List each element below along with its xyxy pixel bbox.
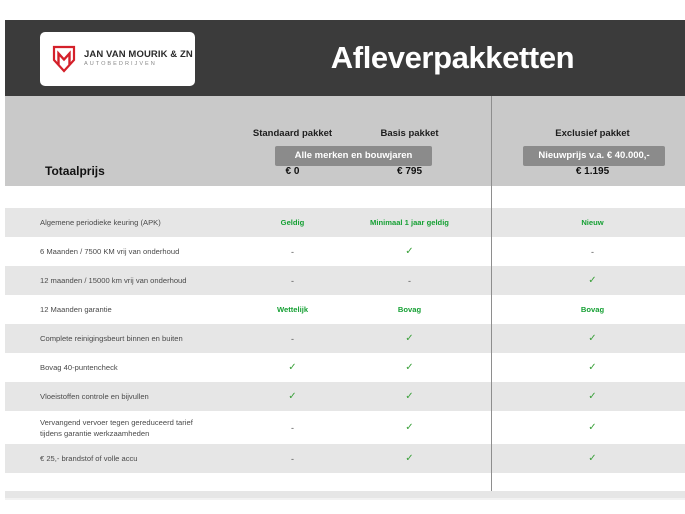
- row-label-line: Vervangend vervoer tegen gereduceerd tar…: [40, 417, 230, 428]
- row-label: 12 maanden / 15000 km vrij van onderhoud: [40, 266, 230, 295]
- cell-exclusief: ✓: [505, 382, 680, 411]
- cell-exclusief: Bovag: [505, 295, 680, 324]
- cell-exclusief: ✓: [505, 324, 680, 353]
- cell-standaard: -: [235, 444, 350, 473]
- page-title: Afleverpakketten: [220, 20, 685, 96]
- cell-standaard: -: [235, 237, 350, 266]
- cell-basis: ✓: [352, 444, 467, 473]
- table-row: 12 Maanden garantieWettelijkBovagBovag: [5, 295, 685, 324]
- cell-exclusief: ✓: [505, 266, 680, 295]
- cell-basis: Minimaal 1 jaar geldig: [352, 208, 467, 237]
- row-label-line: tijdens garantie werkzaamheden: [40, 428, 230, 439]
- total-price-basis: € 795: [352, 166, 467, 177]
- cell-basis: ✓: [352, 411, 467, 444]
- company-logo: JAN VAN MOURIK & ZN AUTOBEDRIJVEN: [40, 32, 195, 86]
- cell-standaard: -: [235, 411, 350, 444]
- package-header-band: Standaard pakket Basis pakket Exclusief …: [5, 96, 685, 186]
- cell-basis: -: [352, 266, 467, 295]
- row-label: 12 Maanden garantie: [40, 295, 230, 324]
- table-row: € 25,- brandstof of volle accu-✓✓: [5, 444, 685, 473]
- header-bar: JAN VAN MOURIK & ZN AUTOBEDRIJVEN Afleve…: [5, 20, 685, 96]
- column-header-standaard: Standaard pakket: [235, 128, 350, 139]
- badge-nieuwprijs: Nieuwprijs v.a. € 40.000,-: [523, 146, 665, 166]
- cell-standaard: ✓: [235, 353, 350, 382]
- row-label: Complete reinigingsbeurt binnen en buite…: [40, 324, 230, 353]
- comparison-card: JAN VAN MOURIK & ZN AUTOBEDRIJVEN Afleve…: [5, 20, 685, 500]
- cell-basis: ✓: [352, 324, 467, 353]
- logo-company-subtitle: AUTOBEDRIJVEN: [84, 62, 193, 68]
- cell-basis: Bovag: [352, 295, 467, 324]
- cell-standaard: ✓: [235, 382, 350, 411]
- row-label: Bovag 40-puntencheck: [40, 353, 230, 382]
- column-header-basis: Basis pakket: [352, 128, 467, 139]
- cell-exclusief: ✓: [505, 353, 680, 382]
- cell-basis: ✓: [352, 382, 467, 411]
- footer-rule: [5, 498, 685, 500]
- cell-standaard: Wettelijk: [235, 295, 350, 324]
- cell-basis: ✓: [352, 353, 467, 382]
- cell-standaard: -: [235, 324, 350, 353]
- table-row: 6 Maanden / 7500 KM vrij van onderhoud-✓…: [5, 237, 685, 266]
- cell-exclusief: ✓: [505, 411, 680, 444]
- row-label: Algemene periodieke keuring (APK): [40, 208, 230, 237]
- total-price-standaard: € 0: [235, 166, 350, 177]
- table-row: Complete reinigingsbeurt binnen en buite…: [5, 324, 685, 353]
- cell-exclusief: -: [505, 237, 680, 266]
- cell-standaard: -: [235, 266, 350, 295]
- cell-exclusief: ✓: [505, 444, 680, 473]
- row-label: € 25,- brandstof of volle accu: [40, 444, 230, 473]
- table-row: Bovag 40-puntencheck✓✓✓: [5, 353, 685, 382]
- row-label: Vervangend vervoer tegen gereduceerd tar…: [40, 411, 230, 444]
- row-label: 6 Maanden / 7500 KM vrij van onderhoud: [40, 237, 230, 266]
- column-divider: [491, 96, 492, 496]
- feature-rows: Algemene periodieke keuring (APK)GeldigM…: [5, 208, 685, 473]
- row-label: Vloeistoffen controle en bijvullen: [40, 382, 230, 411]
- shield-m-icon: [52, 45, 76, 73]
- band-gap: [5, 186, 685, 208]
- column-header-exclusief: Exclusief pakket: [505, 128, 680, 139]
- table-row: Algemene periodieke keuring (APK)GeldigM…: [5, 208, 685, 237]
- table-row: Vervangend vervoer tegen gereduceerd tar…: [5, 411, 685, 444]
- table-row: 12 maanden / 15000 km vrij van onderhoud…: [5, 266, 685, 295]
- total-price-label: Totaalprijs: [45, 164, 105, 178]
- table-row: Vloeistoffen controle en bijvullen✓✓✓: [5, 382, 685, 411]
- logo-company-name: JAN VAN MOURIK & ZN: [84, 50, 193, 60]
- cell-standaard: Geldig: [235, 208, 350, 237]
- cell-exclusief: Nieuw: [505, 208, 680, 237]
- badge-alle-merken: Alle merken en bouwjaren: [275, 146, 432, 166]
- cell-basis: ✓: [352, 237, 467, 266]
- page-root: JAN VAN MOURIK & ZN AUTOBEDRIJVEN Afleve…: [0, 0, 685, 514]
- total-price-exclusief: € 1.195: [505, 166, 680, 177]
